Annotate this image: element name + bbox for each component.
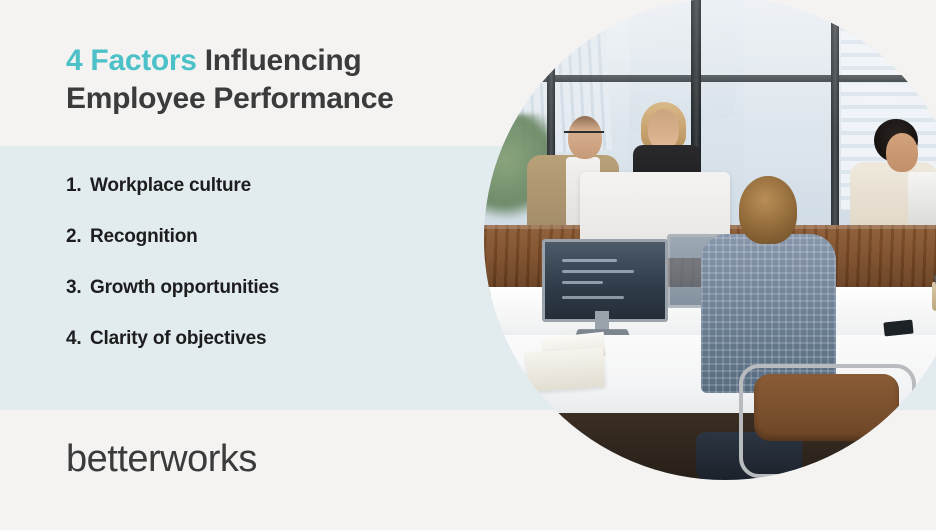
page-title: 4 Factors Influencing Employee Performan… [66,42,486,119]
betterworks-logo: betterworks [66,438,257,481]
list-item: 2. Recognition [66,226,466,248]
factors-list: 1. Workplace culture 2. Recognition 3. G… [66,175,466,379]
chair-backrest [754,374,899,441]
person-blazer-head [568,116,602,159]
headline-rest: Influencing [197,44,362,77]
headline-line-2: Employee Performance [66,82,393,115]
office-photo-circle [484,0,936,480]
list-item-label: Recognition [90,226,466,248]
person-woman-head [648,109,679,150]
list-item: 3. Growth opportunities [66,277,466,299]
list-item-label: Growth opportunities [90,277,466,299]
list-item-label: Clarity of objectives [90,328,466,350]
primary-monitor [542,239,669,322]
slide-canvas: 4 Factors Influencing Employee Performan… [0,0,936,530]
laptop [908,172,936,225]
person-foreground-head [739,176,797,243]
window-view-building [744,0,840,181]
eyeglasses-icon [564,131,605,133]
notebook [526,347,606,391]
pencil-cup [932,282,936,311]
list-item: 4. Clarity of objectives [66,328,466,350]
list-item-label: Workplace culture [90,175,466,197]
list-item-number: 3. [66,277,90,299]
list-item: 1. Workplace culture [66,175,466,197]
monitor-neck [595,311,609,330]
list-item-number: 2. [66,226,90,248]
office-photo-content [484,0,936,480]
list-item-number: 4. [66,328,90,350]
headline-accent: 4 Factors [66,44,197,77]
list-item-number: 1. [66,175,90,197]
person-right-head [886,133,917,172]
